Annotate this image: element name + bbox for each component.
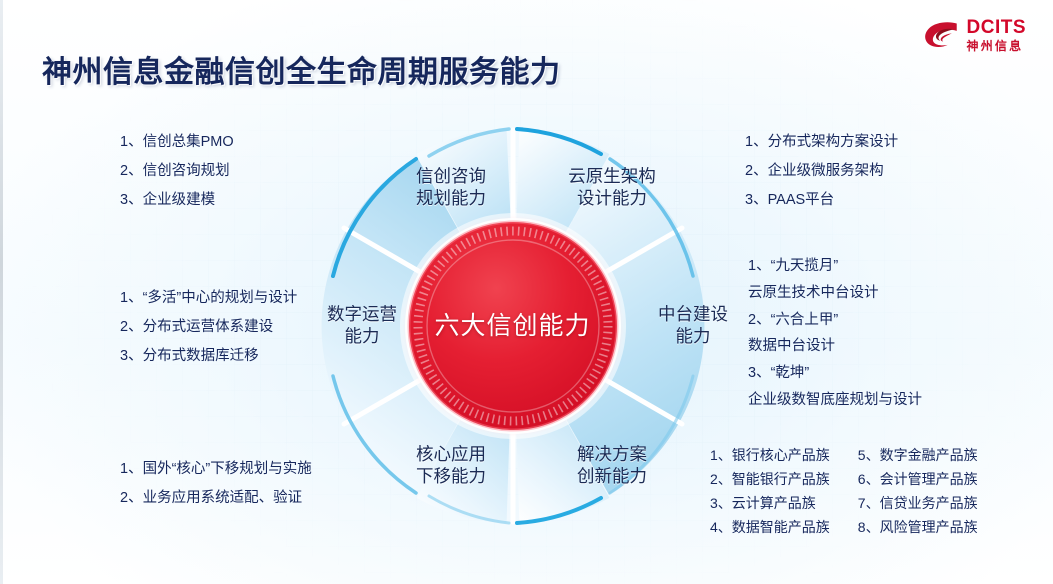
list-item: 4、数据智能产品族 [710,515,830,539]
list-item: 1、国外“核心”下移规划与实施 [120,455,312,484]
info-block-bottom-left: 1、国外“核心”下移规划与实施 2、业务应用系统适配、验证 [120,455,312,513]
dcits-swoosh-icon [924,20,960,50]
product-family-column-1: 1、银行核心产品族 2、智能银行产品族 3、云计算产品族 4、数据智能产品族 [710,443,830,539]
product-family-column-2: 5、数字金融产品族 6、会计管理产品族 7、信贷业务产品族 8、风险管理产品族 [858,443,978,539]
page-title: 神州信息金融信创全生命周期服务能力 [42,47,561,91]
info-block-middle-left: 1、“多活”中心的规划与设计 2、分布式运营体系建设 3、分布式数据库迁移 [120,284,297,371]
info-block-middle-right: 1、“九天揽月” 云原生技术中台设计 2、“六合上甲” 数据中台设计 3、“乾坤… [748,253,922,414]
info-block-top-right: 1、分布式架构方案设计 2、企业级微服务架构 3、PAAS平台 [745,128,898,215]
segment-label-solution: 解决方案创新能力 [547,443,677,488]
list-item: 2、信创咨询规划 [120,157,234,186]
info-block-bottom-right: 1、银行核心产品族 2、智能银行产品族 3、云计算产品族 4、数据智能产品族 5… [710,443,978,539]
list-item: 2、智能银行产品族 [710,467,830,491]
list-item: 3、企业级建模 [120,186,234,215]
list-item: 8、风险管理产品族 [858,515,978,539]
list-item: 3、云计算产品族 [710,491,830,515]
list-item: 5、数字金融产品族 [858,443,978,467]
list-item: 2、企业级微服务架构 [745,157,898,186]
page-header: 神州信息金融信创全生命周期服务能力 DCITS 神州信息 [0,0,1053,108]
segment-label-midtai: 中台建设能力 [638,303,748,348]
left-edge-line [0,0,3,584]
list-item: 3、“乾坤” [748,360,922,387]
list-item: 2、分布式运营体系建设 [120,313,297,342]
list-item: 1、银行核心产品族 [710,443,830,467]
list-item-sub: 企业级数智底座规划与设计 [748,387,922,414]
list-item: 7、信贷业务产品族 [858,491,978,515]
logo-text: DCITS 神州信息 [967,18,1027,52]
list-item-sub: 云原生技术中台设计 [748,280,922,307]
wheel-center-label: 六大信创能力 [405,306,620,342]
dcits-logo: DCITS 神州信息 [924,18,1027,52]
segment-label-core: 核心应用下移能力 [386,443,516,488]
info-block-top-left: 1、信创总集PMO 2、信创咨询规划 3、企业级建模 [120,128,234,215]
list-item: 1、信创总集PMO [120,128,234,157]
list-item: 1、分布式架构方案设计 [745,128,898,157]
list-item: 1、“多活”中心的规划与设计 [120,284,297,313]
list-item: 2、业务应用系统适配、验证 [120,484,312,513]
list-item: 6、会计管理产品族 [858,467,978,491]
list-item-sub: 数据中台设计 [748,333,922,360]
list-item: 1、“九天揽月” [748,253,922,280]
segment-label-cloud: 云原生架构设计能力 [547,165,677,210]
segment-label-digital: 数字运营能力 [307,303,417,348]
list-item: 2、“六合上甲” [748,307,922,334]
segment-label-consult: 信创咨询规划能力 [386,165,516,210]
logo-name: DCITS [967,18,1027,37]
list-item: 3、PAAS平台 [745,186,898,215]
logo-subtitle: 神州信息 [967,40,1027,52]
list-item: 3、分布式数据库迁移 [120,342,297,371]
